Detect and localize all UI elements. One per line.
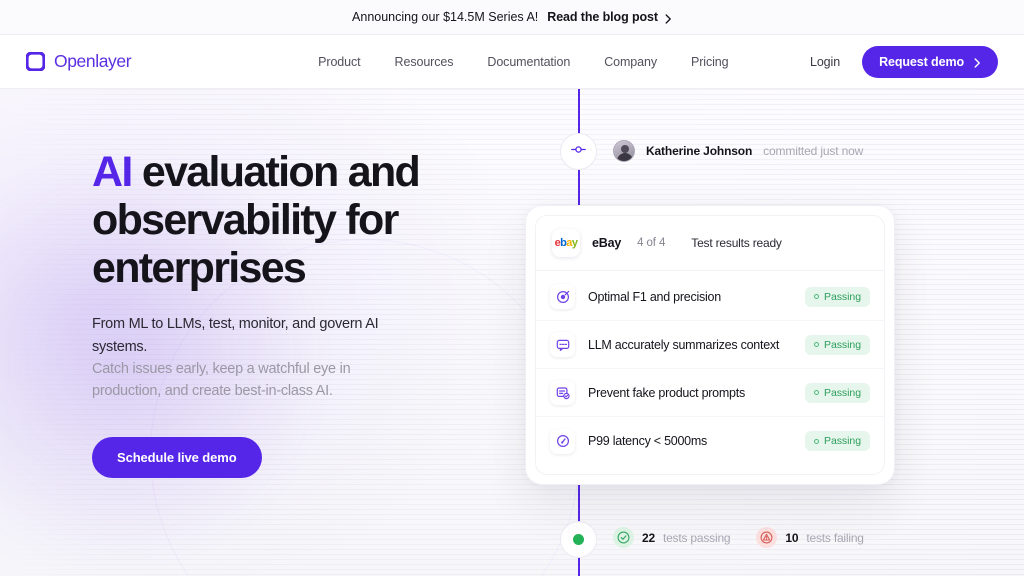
- request-demo-button[interactable]: Request demo: [862, 46, 998, 78]
- nav-item-resources[interactable]: Resources: [395, 55, 454, 69]
- table-row[interactable]: Prevent fake product prompts Passing: [536, 369, 884, 417]
- tests-failing-stat: 10 tests failing: [756, 527, 863, 548]
- test-results-card-inner: ebay eBay 4 of 4 Test results ready Opti…: [535, 215, 885, 475]
- openlayer-logo-icon: [26, 52, 45, 71]
- passing-count: 22: [642, 531, 655, 545]
- project-name: eBay: [592, 236, 621, 250]
- headline-accent: AI: [92, 148, 132, 196]
- test-count: 4 of 4: [637, 237, 665, 249]
- status-node: [560, 521, 597, 558]
- status-badge: Passing: [805, 287, 870, 307]
- status-badge: Passing: [805, 383, 870, 403]
- chat-bubble-icon: [550, 332, 575, 357]
- nav-item-product[interactable]: Product: [318, 55, 360, 69]
- commit-author-name: Katherine Johnson: [646, 144, 752, 158]
- status-dot-icon: [814, 439, 819, 444]
- read-blog-post-link[interactable]: Read the blog post: [547, 10, 672, 24]
- card-header: ebay eBay 4 of 4 Test results ready: [536, 216, 884, 271]
- announcement-text: Announcing our $14.5M Series A!: [352, 10, 538, 24]
- status-label: Passing: [824, 435, 861, 447]
- hero-subtitle: From ML to LLMs, test, monitor, and gove…: [92, 313, 422, 401]
- chevron-right-icon: [665, 14, 672, 21]
- status-badge: Passing: [805, 335, 870, 355]
- status-label: Passing: [824, 387, 861, 399]
- read-blog-post-label: Read the blog post: [547, 10, 658, 24]
- nav-item-pricing[interactable]: Pricing: [691, 55, 729, 69]
- avatar: [613, 140, 635, 162]
- status-label: Passing: [824, 291, 861, 303]
- test-rows: Optimal F1 and precision Passing: [536, 271, 884, 467]
- status-badge: Passing: [805, 431, 870, 451]
- gauge-icon: [550, 429, 575, 454]
- request-demo-label: Request demo: [879, 55, 964, 69]
- failing-label: tests failing: [806, 531, 863, 545]
- test-name: LLM accurately summarizes context: [588, 338, 779, 352]
- passing-label: tests passing: [663, 531, 730, 545]
- chevron-right-icon: [974, 58, 981, 65]
- tests-passing-stat: 22 tests passing: [613, 527, 730, 548]
- test-name: Prevent fake product prompts: [588, 386, 745, 400]
- nav-links: Product Resources Documentation Company …: [318, 55, 728, 69]
- target-icon: [550, 284, 575, 309]
- failing-count: 10: [785, 531, 798, 545]
- test-results-card: ebay eBay 4 of 4 Test results ready Opti…: [525, 205, 895, 485]
- page-root: Announcing our $14.5M Series A! Read the…: [0, 0, 1024, 576]
- status-dot-icon: [814, 342, 819, 347]
- nav-item-company[interactable]: Company: [604, 55, 657, 69]
- announcement-banner: Announcing our $14.5M Series A! Read the…: [0, 0, 1024, 35]
- main-navbar: Openlayer Product Resources Documentatio…: [0, 35, 1024, 89]
- page-title: AI evaluation and observability for ente…: [92, 148, 512, 292]
- test-summary-stats: 22 tests passing 10 tests failing: [613, 527, 864, 548]
- commit-timestamp: committed just now: [763, 144, 863, 158]
- schedule-live-demo-button[interactable]: Schedule live demo: [92, 437, 262, 478]
- brand-name: Openlayer: [54, 51, 131, 72]
- status-label: Passing: [824, 339, 861, 351]
- document-check-icon: [550, 380, 575, 405]
- table-row[interactable]: P99 latency < 5000ms Passing: [536, 417, 884, 465]
- status-dot-icon: [814, 390, 819, 395]
- nav-actions: Login Request demo: [810, 46, 998, 78]
- status-dot-icon: [573, 534, 584, 545]
- test-name: P99 latency < 5000ms: [588, 434, 707, 448]
- test-name: Optimal F1 and precision: [588, 290, 721, 304]
- login-link[interactable]: Login: [810, 55, 840, 69]
- ebay-logo-icon: ebay: [552, 229, 580, 257]
- commit-node: [560, 133, 597, 170]
- commit-activity-row: Katherine Johnson committed just now: [613, 140, 863, 162]
- table-row[interactable]: Optimal F1 and precision Passing: [536, 273, 884, 321]
- table-row[interactable]: LLM accurately summarizes context Passin…: [536, 321, 884, 369]
- brand-home-link[interactable]: Openlayer: [26, 51, 131, 72]
- results-status: Test results ready: [691, 236, 781, 250]
- check-circle-icon: [613, 527, 634, 548]
- commit-node-icon: [571, 142, 586, 162]
- nav-item-documentation[interactable]: Documentation: [487, 55, 570, 69]
- warning-triangle-icon: [756, 527, 777, 548]
- hero-copy: AI evaluation and observability for ente…: [92, 148, 512, 478]
- hero-subtitle-secondary: Catch issues early, keep a watchful eye …: [92, 358, 422, 402]
- headline-rest: evaluation and observability for enterpr…: [92, 148, 419, 292]
- hero-subtitle-primary: From ML to LLMs, test, monitor, and gove…: [92, 313, 422, 357]
- status-dot-icon: [814, 294, 819, 299]
